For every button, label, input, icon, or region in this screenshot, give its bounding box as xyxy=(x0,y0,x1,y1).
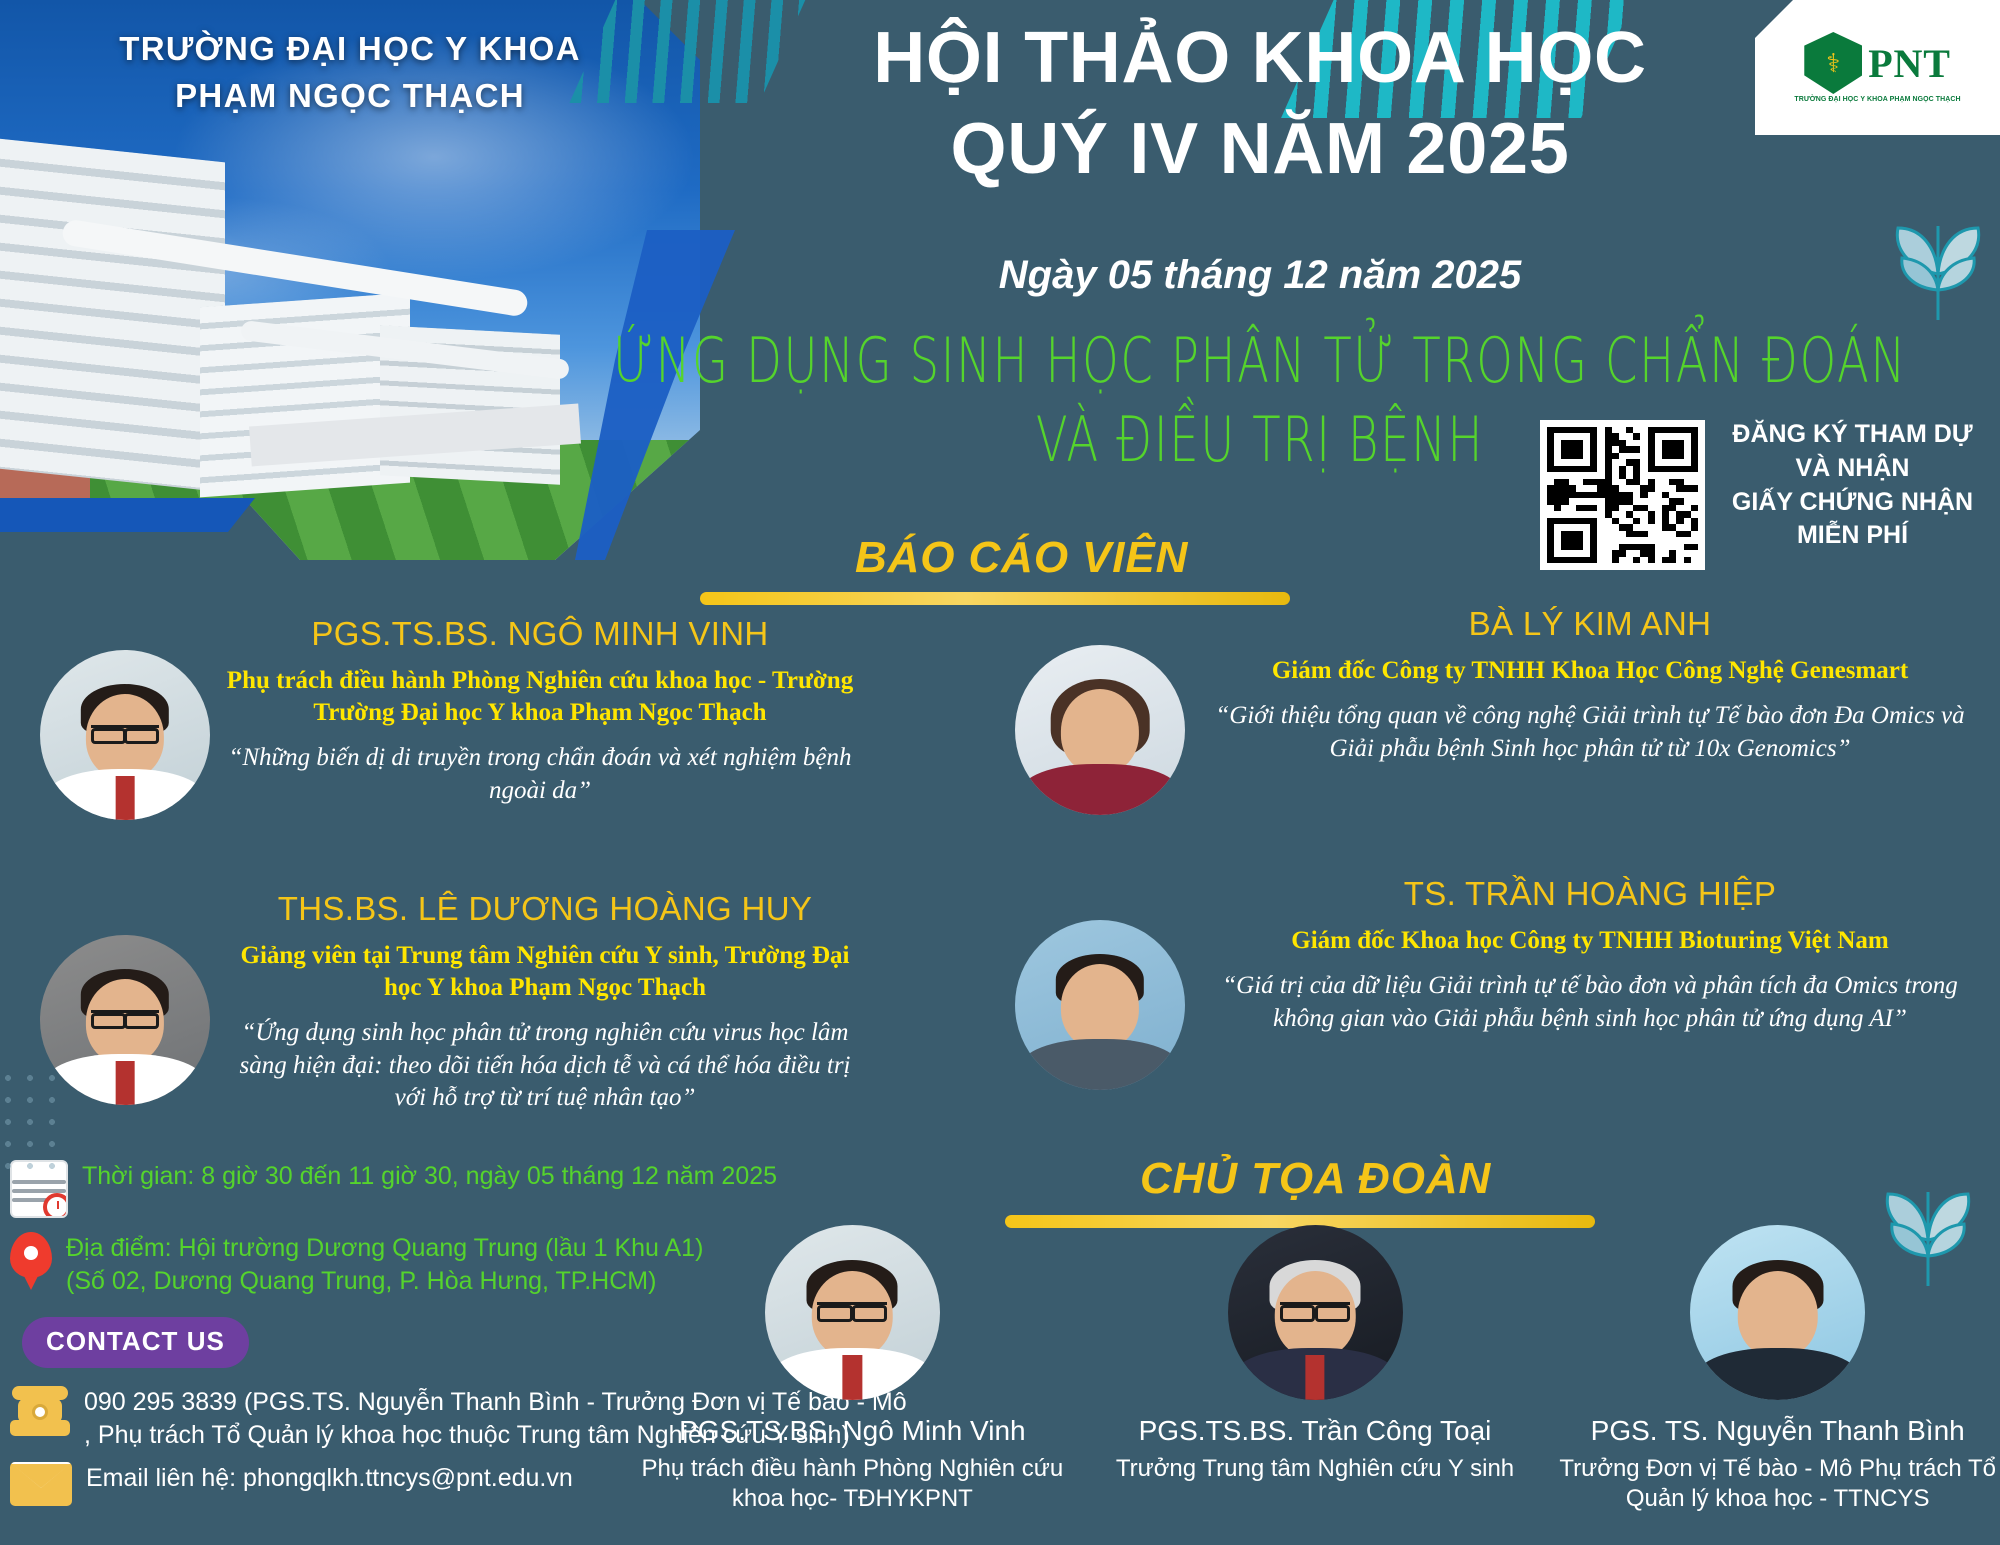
dot-pattern xyxy=(0,1070,70,1180)
avatar xyxy=(40,650,210,820)
qr-line-4: MIỄN PHÍ xyxy=(1710,519,1995,553)
event-time-row: Thời gian: 8 giờ 30 đến 11 giờ 30, ngày … xyxy=(10,1160,910,1218)
chair-card: PGS.TS.BS. Ngô Minh Vinh Phụ trách điều … xyxy=(630,1225,1075,1515)
speaker-topic: “Giá trị của dữ liệu Giải trình tự tế bà… xyxy=(1210,970,1970,1035)
university-line-1: TRƯỜNG ĐẠI HỌC Y KHOA xyxy=(0,26,700,73)
speakers-heading-underline xyxy=(700,592,1290,605)
envelope-icon xyxy=(10,1462,72,1506)
hero-blue-edge xyxy=(0,498,255,532)
chair-name: PGS.TS.BS. Trần Công Toại xyxy=(1093,1414,1538,1448)
chair-name: PGS. TS. Nguyễn Thanh Bình xyxy=(1555,1414,2000,1448)
speaker-role: Giám đốc Công ty TNHH Khoa Học Công Nghệ… xyxy=(1210,655,1970,687)
qr-line-2: VÀ NHẬN xyxy=(1710,452,1995,486)
title-line-1: HỘI THẢO KHOA HỌC xyxy=(873,18,1647,98)
registration-qr-code[interactable] xyxy=(1540,420,1705,570)
speaker-role: Phụ trách điều hành Phòng Nghiên cứu kho… xyxy=(225,665,855,729)
chair-role: Trưởng Đơn vị Tế bào - Mô Phụ trách Tổ Q… xyxy=(1555,1454,2000,1515)
university-name: TRƯỜNG ĐẠI HỌC Y KHOA PHẠM NGỌC THẠCH xyxy=(0,26,700,120)
registration-note: ĐĂNG KÝ THAM DỰ VÀ NHẬN GIẤY CHỨNG NHẬN … xyxy=(1710,418,1995,553)
avatar xyxy=(1228,1225,1403,1400)
venue-line-1: Địa điểm: Hội trường Dương Quang Trung (… xyxy=(66,1234,703,1262)
event-venue: Địa điểm: Hội trường Dương Quang Trung (… xyxy=(66,1232,703,1297)
chairs-panel: PGS.TS.BS. Ngô Minh Vinh Phụ trách điều … xyxy=(630,1225,2000,1515)
poster-canvas: TRƯỜNG ĐẠI HỌC Y KHOA PHẠM NGỌC THẠCH ⚕ … xyxy=(0,0,2000,1545)
speaker-role: Giám đốc Khoa học Công ty TNHH Bioturing… xyxy=(1210,925,1970,957)
event-time: Thời gian: 8 giờ 30 đến 11 giờ 30, ngày … xyxy=(82,1160,777,1193)
avatar xyxy=(1690,1225,1865,1400)
location-pin-icon xyxy=(10,1232,52,1290)
chair-role: Phụ trách điều hành Phòng Nghiên cứu kho… xyxy=(630,1454,1075,1515)
chairs-heading: CHỦ TỌA ĐOÀN xyxy=(1140,1154,1491,1204)
speaker-topic: “Giới thiệu tổng quan về công nghệ Giải … xyxy=(1210,700,1970,765)
speaker-name: TS. TRẦN HOÀNG HIỆP xyxy=(1210,875,1970,913)
theme-line-1: ỨNG DỤNG SINH HỌC PHÂN TỬ TRONG CHẨN ĐOÁ… xyxy=(609,322,1911,400)
speaker-role: Giảng viên tại Trung tâm Nghiên cứu Y si… xyxy=(225,940,865,1004)
title-line-2: QUÝ IV NĂM 2025 xyxy=(620,107,1900,192)
avatar xyxy=(1015,920,1185,1090)
event-date: Ngày 05 tháng 12 năm 2025 xyxy=(620,253,1900,298)
chair-card: PGS.TS.BS. Trần Công Toại Trưởng Trung t… xyxy=(1093,1225,1538,1515)
lotus-icon xyxy=(1878,212,1998,327)
qr-line-3: GIẤY CHỨNG NHẬN xyxy=(1710,486,1995,520)
lotus-icon xyxy=(1868,1178,1988,1293)
chair-name: PGS.TS.BS. Ngô Minh Vinh xyxy=(630,1414,1075,1448)
venue-line-2: (Số 02, Dương Quang Trung, P. Hòa Hưng, … xyxy=(66,1267,656,1295)
qr-line-1: ĐĂNG KÝ THAM DỰ xyxy=(1710,418,1995,452)
speaker-topic: “Ứng dụng sinh học phân tử trong nghiên … xyxy=(225,1017,865,1115)
speaker-name: THS.BS. LÊ DƯƠNG HOÀNG HUY xyxy=(225,890,865,928)
speakers-heading: BÁO CÁO VIÊN xyxy=(855,533,1188,583)
chair-role: Trưởng Trung tâm Nghiên cứu Y sinh xyxy=(1093,1454,1538,1485)
avatar xyxy=(765,1225,940,1400)
contact-us-badge: CONTACT US xyxy=(22,1317,249,1368)
page-title: HỘI THẢO KHOA HỌC QUÝ IV NĂM 2025 xyxy=(620,16,1900,192)
contact-email: Email liên hệ: phongqlkh.ttncys@pnt.edu.… xyxy=(86,1462,573,1495)
telephone-icon xyxy=(10,1386,70,1436)
speaker-topic: “Những biến dị di truyền trong chẩn đoán… xyxy=(225,742,855,807)
speaker-name: PGS.TS.BS. NGÔ MINH VINH xyxy=(225,615,855,653)
university-line-2: PHẠM NGỌC THẠCH xyxy=(0,73,700,120)
speaker-name: BÀ LÝ KIM ANH xyxy=(1210,605,1970,643)
avatar xyxy=(1015,645,1185,815)
